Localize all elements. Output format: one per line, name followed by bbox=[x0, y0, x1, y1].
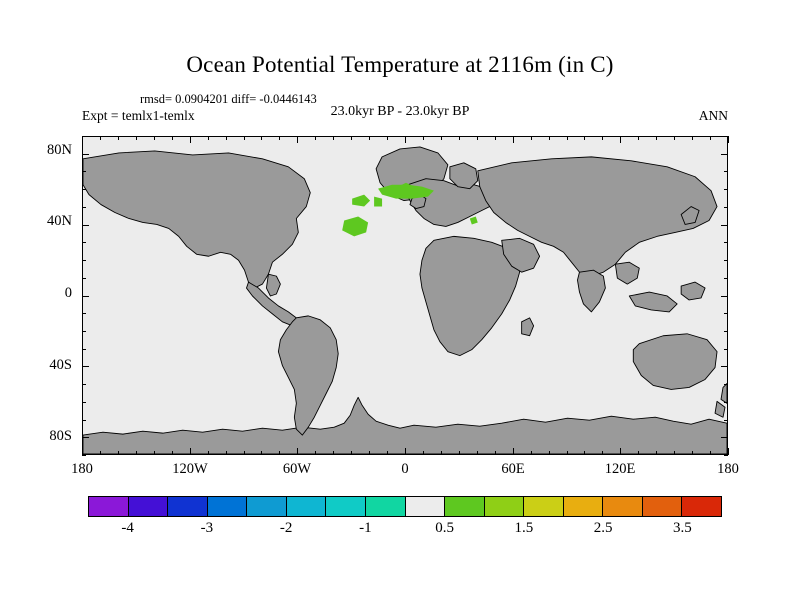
colorbar-segment-7 bbox=[366, 497, 406, 516]
colorbar-tick-0.5: 0.5 bbox=[410, 520, 480, 537]
world-map bbox=[83, 137, 727, 454]
xtick-180 bbox=[728, 448, 729, 455]
ytick--60 bbox=[82, 402, 86, 403]
ytick-40 bbox=[82, 225, 89, 226]
xtick-top-140 bbox=[656, 136, 657, 140]
xtick-top--160 bbox=[118, 136, 119, 140]
ytick-right--60 bbox=[724, 402, 728, 403]
ytick-right--20 bbox=[724, 331, 728, 332]
ytick-right-90 bbox=[724, 136, 728, 137]
xtick-top-0 bbox=[405, 136, 406, 143]
xtick--130 bbox=[172, 451, 173, 455]
xtick-top-90 bbox=[567, 136, 568, 140]
xtick-top-10 bbox=[423, 136, 424, 140]
colorbar-segment-11 bbox=[524, 497, 564, 516]
ytick-label-0: 0 bbox=[26, 285, 72, 302]
xtick-60 bbox=[513, 448, 514, 455]
xtick-top-70 bbox=[531, 136, 532, 140]
xtick-top--20 bbox=[369, 136, 370, 140]
colorbar-tick-3.5: 3.5 bbox=[647, 520, 717, 537]
xtick-top--80 bbox=[261, 136, 262, 140]
xtick-top-150 bbox=[674, 136, 675, 140]
xtick-40 bbox=[477, 451, 478, 455]
xtick-120 bbox=[620, 448, 621, 455]
ytick--40 bbox=[82, 366, 89, 367]
ytick-80 bbox=[82, 154, 89, 155]
xtick-top-60 bbox=[513, 136, 514, 143]
xtick-top--140 bbox=[154, 136, 155, 140]
ytick-0 bbox=[82, 296, 89, 297]
ytick-right-0 bbox=[721, 296, 728, 297]
ytick-label-40n: 40N bbox=[26, 213, 72, 230]
colorbar-tick-1.5: 1.5 bbox=[489, 520, 559, 537]
xtick--10 bbox=[387, 451, 388, 455]
xtick-top--50 bbox=[315, 136, 316, 140]
xtick-top-40 bbox=[477, 136, 478, 140]
xtick-top--40 bbox=[333, 136, 334, 140]
xtick-130 bbox=[638, 451, 639, 455]
colorbar-tick--3: -3 bbox=[172, 520, 242, 537]
ytick-right-40 bbox=[721, 225, 728, 226]
ytick--20 bbox=[82, 331, 86, 332]
ytick-50 bbox=[82, 207, 86, 208]
xtick-label-180w: 180 bbox=[42, 461, 122, 478]
figure-title: Ocean Potential Temperature at 2116m (in… bbox=[0, 52, 800, 78]
xtick--170 bbox=[100, 451, 101, 455]
ytick-70 bbox=[82, 171, 86, 172]
ytick-label-80s: 80S bbox=[26, 428, 72, 445]
xtick-label-60w: 60W bbox=[257, 461, 337, 478]
xtick-label-0: 0 bbox=[365, 461, 445, 478]
ytick--30 bbox=[82, 349, 86, 350]
xtick-140 bbox=[656, 451, 657, 455]
xtick-top--70 bbox=[279, 136, 280, 140]
colorbar-segment-8 bbox=[406, 497, 446, 516]
xtick-10 bbox=[423, 451, 424, 455]
xtick--40 bbox=[333, 451, 334, 455]
figure-canvas: Ocean Potential Temperature at 2116m (in… bbox=[0, 0, 800, 600]
colorbar-segment-2 bbox=[168, 497, 208, 516]
colorbar bbox=[88, 496, 722, 517]
colorbar-segment-12 bbox=[564, 497, 604, 516]
xtick-top-30 bbox=[459, 136, 460, 140]
xtick-50 bbox=[495, 451, 496, 455]
ytick-right-80 bbox=[721, 154, 728, 155]
ytick-right-20 bbox=[724, 260, 728, 261]
xtick-top-120 bbox=[620, 136, 621, 143]
xtick--30 bbox=[351, 451, 352, 455]
xtick-80 bbox=[549, 451, 550, 455]
colorbar-segment-3 bbox=[208, 497, 248, 516]
xtick-top--10 bbox=[387, 136, 388, 140]
ytick-right--90 bbox=[724, 455, 728, 456]
xtick-90 bbox=[567, 451, 568, 455]
ytick-right--30 bbox=[724, 349, 728, 350]
map-plot-area bbox=[82, 136, 728, 455]
colorbar-segment-13 bbox=[603, 497, 643, 516]
ytick-20 bbox=[82, 260, 86, 261]
xtick--120 bbox=[190, 448, 191, 455]
xtick-70 bbox=[531, 451, 532, 455]
ytick-right-50 bbox=[724, 207, 728, 208]
ytick-right--10 bbox=[724, 313, 728, 314]
xtick-top--100 bbox=[226, 136, 227, 140]
colorbar-segment-9 bbox=[445, 497, 485, 516]
xtick-label-180e: 180 bbox=[688, 461, 768, 478]
xtick-top-20 bbox=[441, 136, 442, 140]
ytick--50 bbox=[82, 384, 86, 385]
xtick-top-80 bbox=[549, 136, 550, 140]
xtick-top-100 bbox=[584, 136, 585, 140]
xtick--150 bbox=[136, 451, 137, 455]
xtick-top--170 bbox=[100, 136, 101, 140]
ytick-60 bbox=[82, 189, 86, 190]
colorbar-segment-0 bbox=[89, 497, 129, 516]
xtick-top--150 bbox=[136, 136, 137, 140]
ytick--90 bbox=[82, 455, 86, 456]
ytick--80 bbox=[82, 437, 89, 438]
xtick--100 bbox=[226, 451, 227, 455]
ytick-label-40s: 40S bbox=[26, 357, 72, 374]
colorbar-tick-2.5: 2.5 bbox=[568, 520, 638, 537]
xtick-label-60e: 60E bbox=[473, 461, 553, 478]
colorbar-segment-6 bbox=[326, 497, 366, 516]
xtick-160 bbox=[692, 451, 693, 455]
xtick-label-120e: 120E bbox=[580, 461, 660, 478]
colorbar-segment-5 bbox=[287, 497, 327, 516]
xtick-top--110 bbox=[208, 136, 209, 140]
ytick--10 bbox=[82, 313, 86, 314]
time-period-label: 23.0kyr BP - 23.0kyr BP bbox=[0, 104, 800, 120]
xtick-top--180 bbox=[82, 136, 83, 143]
xtick--80 bbox=[261, 451, 262, 455]
xtick-top-160 bbox=[692, 136, 693, 140]
xtick-170 bbox=[710, 451, 711, 455]
ytick-right--40 bbox=[721, 366, 728, 367]
colorbar-segment-10 bbox=[485, 497, 525, 516]
colorbar-segment-15 bbox=[682, 497, 721, 516]
xtick-top--130 bbox=[172, 136, 173, 140]
xtick-top-110 bbox=[602, 136, 603, 140]
season-label: ANN bbox=[699, 108, 728, 124]
xtick-0 bbox=[405, 448, 406, 455]
xtick--90 bbox=[244, 451, 245, 455]
xtick-110 bbox=[602, 451, 603, 455]
xtick--180 bbox=[82, 448, 83, 455]
xtick--140 bbox=[154, 451, 155, 455]
xtick-top-180 bbox=[728, 136, 729, 143]
xtick--50 bbox=[315, 451, 316, 455]
ytick-right-30 bbox=[724, 242, 728, 243]
xtick-100 bbox=[584, 451, 585, 455]
colorbar-segment-4 bbox=[247, 497, 287, 516]
ytick--70 bbox=[82, 420, 86, 421]
colorbar-segment-14 bbox=[643, 497, 683, 516]
xtick--70 bbox=[279, 451, 280, 455]
ytick-right-60 bbox=[724, 189, 728, 190]
xtick-20 bbox=[441, 451, 442, 455]
ytick-label-80n: 80N bbox=[26, 142, 72, 159]
xtick--20 bbox=[369, 451, 370, 455]
colorbar-tick--2: -2 bbox=[251, 520, 321, 537]
xtick-top-50 bbox=[495, 136, 496, 140]
colorbar-tick--1: -1 bbox=[330, 520, 400, 537]
xtick-top--120 bbox=[190, 136, 191, 143]
ytick-right-70 bbox=[724, 171, 728, 172]
xtick-top--30 bbox=[351, 136, 352, 140]
ytick-10 bbox=[82, 278, 86, 279]
xtick-30 bbox=[459, 451, 460, 455]
colorbar-tick--4: -4 bbox=[93, 520, 163, 537]
ytick-30 bbox=[82, 242, 86, 243]
xtick-150 bbox=[674, 451, 675, 455]
ytick-right-10 bbox=[724, 278, 728, 279]
xtick-label-120w: 120W bbox=[150, 461, 230, 478]
ytick-right--80 bbox=[721, 437, 728, 438]
xtick-top--60 bbox=[297, 136, 298, 143]
xtick--60 bbox=[297, 448, 298, 455]
xtick-top-170 bbox=[710, 136, 711, 140]
ytick-right--70 bbox=[724, 420, 728, 421]
xtick--160 bbox=[118, 451, 119, 455]
xtick-top-130 bbox=[638, 136, 639, 140]
xtick-top--90 bbox=[244, 136, 245, 140]
colorbar-segment-1 bbox=[129, 497, 169, 516]
xtick--110 bbox=[208, 451, 209, 455]
ytick-right--50 bbox=[724, 384, 728, 385]
ytick-90 bbox=[82, 136, 86, 137]
